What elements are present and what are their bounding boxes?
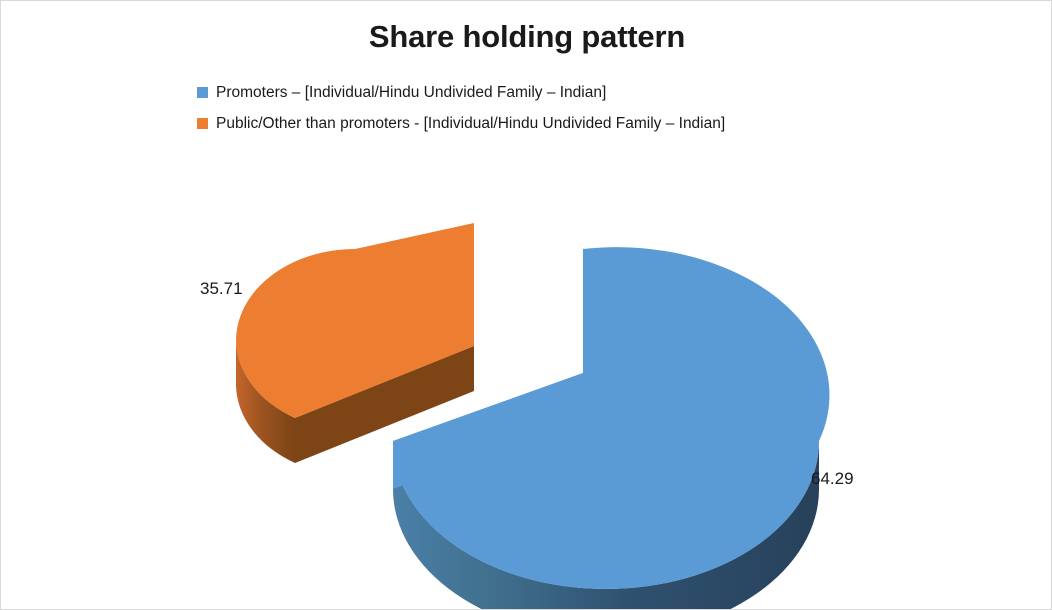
data-label-public-other: 35.71 — [200, 279, 243, 298]
data-label-promoters: 64.29 — [811, 469, 854, 488]
chart-container: Share holding pattern Promoters – [Indiv… — [0, 0, 1052, 610]
pie-chart-graphic: 35.71 64.29 — [1, 1, 1052, 610]
